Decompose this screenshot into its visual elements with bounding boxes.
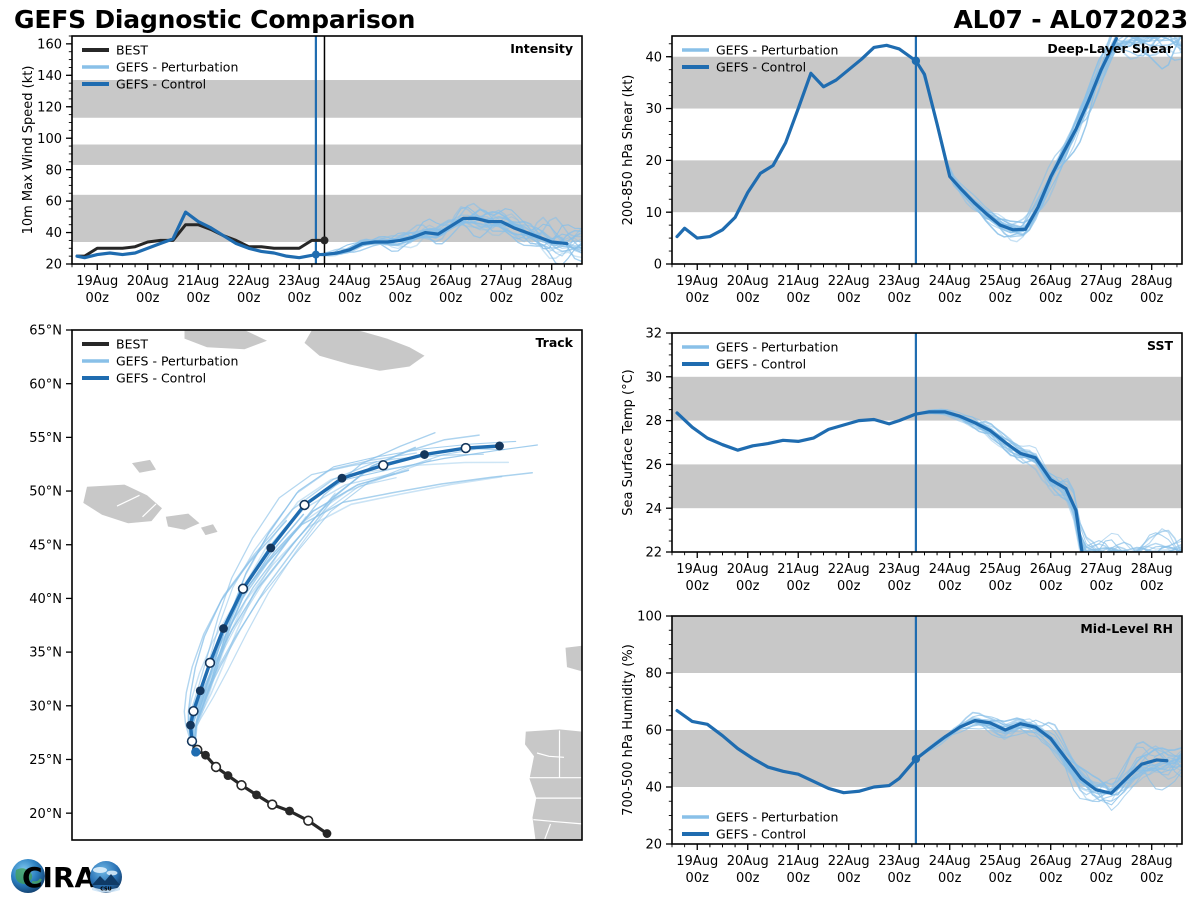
svg-text:24: 24 bbox=[645, 502, 662, 517]
chart-track[interactable]: 20°N25°N30°N35°N40°N45°N50°N55°N60°N65°N… bbox=[0, 322, 600, 852]
chart-intensity[interactable]: 2040608010012014016010m Max Wind Speed (… bbox=[0, 28, 600, 320]
svg-text:40: 40 bbox=[645, 781, 662, 796]
svg-text:30°N: 30°N bbox=[29, 699, 62, 714]
svg-text:160: 160 bbox=[37, 37, 62, 52]
cira-logo-subtext: CSU bbox=[100, 887, 111, 893]
svg-text:23Aug: 23Aug bbox=[878, 562, 920, 577]
legend-label: GEFS - Control bbox=[116, 370, 206, 385]
svg-text:60: 60 bbox=[45, 195, 62, 210]
y-axis-label: 10m Max Wind Speed (kt) bbox=[21, 66, 36, 235]
svg-text:28Aug: 28Aug bbox=[1131, 854, 1173, 869]
svg-text:00z: 00z bbox=[989, 871, 1013, 886]
svg-text:00z: 00z bbox=[1140, 871, 1164, 886]
svg-text:22Aug: 22Aug bbox=[828, 854, 870, 869]
svg-text:00z: 00z bbox=[736, 871, 760, 886]
svg-text:100: 100 bbox=[37, 132, 62, 147]
best-end-marker bbox=[320, 236, 328, 244]
chart-intensity-svg: 2040608010012014016010m Max Wind Speed (… bbox=[0, 28, 600, 320]
init-marker bbox=[912, 755, 920, 763]
chart-mid-level-rh[interactable]: 20406080100700-500 hPa Humidity (%)19Aug… bbox=[600, 608, 1200, 900]
svg-text:45°N: 45°N bbox=[29, 538, 62, 553]
svg-text:20: 20 bbox=[645, 838, 662, 853]
svg-text:00z: 00z bbox=[1090, 291, 1114, 306]
svg-text:25Aug: 25Aug bbox=[979, 274, 1021, 289]
svg-text:00z: 00z bbox=[686, 291, 710, 306]
svg-text:55°N: 55°N bbox=[29, 431, 62, 446]
svg-text:19Aug: 19Aug bbox=[676, 274, 718, 289]
svg-text:21Aug: 21Aug bbox=[777, 274, 819, 289]
svg-text:00z: 00z bbox=[1090, 579, 1114, 594]
svg-text:20Aug: 20Aug bbox=[727, 562, 769, 577]
svg-text:23Aug: 23Aug bbox=[878, 854, 920, 869]
svg-text:26Aug: 26Aug bbox=[1030, 854, 1072, 869]
svg-text:25Aug: 25Aug bbox=[979, 562, 1021, 577]
svg-text:0: 0 bbox=[654, 258, 662, 273]
legend-label: GEFS - Control bbox=[716, 59, 806, 74]
svg-text:22Aug: 22Aug bbox=[228, 274, 270, 289]
x-axis: 19Aug00z20Aug00z21Aug00z22Aug00z23Aug00z… bbox=[72, 264, 577, 306]
y-axis: 010203040 bbox=[645, 44, 672, 273]
svg-text:20: 20 bbox=[45, 258, 62, 273]
svg-text:28: 28 bbox=[645, 414, 662, 429]
svg-text:26Aug: 26Aug bbox=[1030, 274, 1072, 289]
svg-text:27Aug: 27Aug bbox=[480, 274, 522, 289]
svg-text:24Aug: 24Aug bbox=[929, 854, 971, 869]
svg-text:00z: 00z bbox=[787, 871, 811, 886]
chart-sst-svg: 222426283032Sea Surface Temp (°C)19Aug00… bbox=[600, 325, 1200, 608]
y-axis-label: Sea Surface Temp (°C) bbox=[621, 369, 636, 516]
svg-text:27Aug: 27Aug bbox=[1080, 854, 1122, 869]
control-start-marker bbox=[191, 747, 200, 756]
legend-label: GEFS - Perturbation bbox=[116, 353, 238, 368]
legend-label: GEFS - Control bbox=[116, 76, 206, 91]
svg-text:00z: 00z bbox=[187, 291, 211, 306]
svg-text:60: 60 bbox=[645, 724, 662, 739]
svg-text:40°N: 40°N bbox=[29, 592, 62, 607]
panel-title: Intensity bbox=[510, 41, 573, 56]
x-axis: 19Aug00z20Aug00z21Aug00z22Aug00z23Aug00z… bbox=[672, 552, 1177, 594]
y-axis: 20°N25°N30°N35°N40°N45°N50°N55°N60°N65°N bbox=[29, 324, 72, 822]
svg-text:21Aug: 21Aug bbox=[777, 562, 819, 577]
svg-text:00z: 00z bbox=[338, 291, 362, 306]
svg-text:00z: 00z bbox=[439, 291, 463, 306]
panel-title: Track bbox=[536, 335, 574, 350]
panel-title: SST bbox=[1147, 338, 1173, 353]
chart-deep-layer-shear[interactable]: 010203040200-850 hPa Shear (kt)19Aug00z2… bbox=[600, 28, 1200, 320]
svg-text:28Aug: 28Aug bbox=[1131, 274, 1173, 289]
init-marker bbox=[912, 57, 920, 65]
svg-text:00z: 00z bbox=[1140, 291, 1164, 306]
svg-text:35°N: 35°N bbox=[29, 646, 62, 661]
svg-text:00z: 00z bbox=[736, 579, 760, 594]
svg-text:40: 40 bbox=[45, 226, 62, 241]
y-axis: 20406080100 bbox=[637, 610, 672, 853]
y-axis-label: 700-500 hPa Humidity (%) bbox=[621, 644, 636, 816]
svg-text:23Aug: 23Aug bbox=[878, 274, 920, 289]
svg-text:120: 120 bbox=[37, 100, 62, 115]
svg-text:19Aug: 19Aug bbox=[76, 274, 118, 289]
panel-title: Deep-Layer Shear bbox=[1047, 41, 1173, 56]
svg-text:00z: 00z bbox=[136, 291, 160, 306]
svg-text:00z: 00z bbox=[837, 291, 861, 306]
cira-logo: CIRA CSU bbox=[6, 852, 132, 898]
svg-text:22Aug: 22Aug bbox=[828, 562, 870, 577]
svg-text:19Aug: 19Aug bbox=[676, 854, 718, 869]
svg-text:00z: 00z bbox=[389, 291, 413, 306]
svg-text:00z: 00z bbox=[837, 579, 861, 594]
svg-text:00z: 00z bbox=[686, 579, 710, 594]
svg-text:00z: 00z bbox=[86, 291, 110, 306]
svg-text:00z: 00z bbox=[938, 291, 962, 306]
legend-label: GEFS - Perturbation bbox=[716, 339, 838, 354]
cira-logo-text: CIRA bbox=[22, 861, 97, 894]
svg-text:25Aug: 25Aug bbox=[979, 854, 1021, 869]
svg-text:00z: 00z bbox=[1039, 579, 1063, 594]
svg-text:00z: 00z bbox=[1039, 291, 1063, 306]
svg-text:20Aug: 20Aug bbox=[727, 854, 769, 869]
svg-text:20Aug: 20Aug bbox=[727, 274, 769, 289]
svg-text:00z: 00z bbox=[989, 291, 1013, 306]
svg-text:00z: 00z bbox=[888, 871, 912, 886]
y-axis-label: 200-850 hPa Shear (kt) bbox=[621, 75, 636, 226]
svg-text:80: 80 bbox=[45, 163, 62, 178]
svg-text:00z: 00z bbox=[1140, 579, 1164, 594]
chart-track-svg: 20°N25°N30°N35°N40°N45°N50°N55°N60°N65°N… bbox=[0, 322, 600, 852]
svg-text:65°N: 65°N bbox=[29, 324, 62, 339]
svg-text:50°N: 50°N bbox=[29, 485, 62, 500]
svg-text:00z: 00z bbox=[686, 871, 710, 886]
cira-logo-emblem: CSU bbox=[90, 861, 122, 893]
svg-text:140: 140 bbox=[37, 69, 62, 84]
svg-text:24Aug: 24Aug bbox=[929, 562, 971, 577]
svg-text:00z: 00z bbox=[288, 291, 312, 306]
svg-text:00z: 00z bbox=[888, 291, 912, 306]
svg-text:21Aug: 21Aug bbox=[177, 274, 219, 289]
svg-text:24Aug: 24Aug bbox=[929, 274, 971, 289]
legend-label: GEFS - Perturbation bbox=[716, 42, 838, 57]
legend-label: GEFS - Perturbation bbox=[716, 809, 838, 824]
legend-label: BEST bbox=[116, 42, 148, 57]
legend-label: GEFS - Perturbation bbox=[116, 59, 238, 74]
svg-text:26Aug: 26Aug bbox=[1030, 562, 1072, 577]
svg-text:25Aug: 25Aug bbox=[379, 274, 421, 289]
svg-text:00z: 00z bbox=[1090, 871, 1114, 886]
x-axis: 19Aug00z20Aug00z21Aug00z22Aug00z23Aug00z… bbox=[672, 264, 1177, 306]
svg-text:00z: 00z bbox=[787, 579, 811, 594]
svg-text:22: 22 bbox=[645, 546, 662, 561]
svg-text:80: 80 bbox=[645, 667, 662, 682]
svg-text:20Aug: 20Aug bbox=[127, 274, 169, 289]
svg-text:26Aug: 26Aug bbox=[430, 274, 472, 289]
panel-title: Mid-Level RH bbox=[1080, 621, 1173, 636]
svg-text:00z: 00z bbox=[540, 291, 564, 306]
x-axis: 19Aug00z20Aug00z21Aug00z22Aug00z23Aug00z… bbox=[672, 844, 1177, 886]
svg-text:23Aug: 23Aug bbox=[278, 274, 320, 289]
svg-text:00z: 00z bbox=[888, 579, 912, 594]
svg-text:40: 40 bbox=[645, 50, 662, 65]
svg-text:20°N: 20°N bbox=[29, 807, 62, 822]
chart-shear-svg: 010203040200-850 hPa Shear (kt)19Aug00z2… bbox=[600, 28, 1200, 320]
svg-text:10: 10 bbox=[645, 206, 662, 221]
y-axis: 20406080100120140160 bbox=[37, 36, 72, 273]
init-marker bbox=[312, 251, 320, 259]
chart-rh-svg: 20406080100700-500 hPa Humidity (%)19Aug… bbox=[600, 608, 1200, 900]
svg-text:27Aug: 27Aug bbox=[1080, 562, 1122, 577]
svg-text:20: 20 bbox=[645, 154, 662, 169]
svg-text:27Aug: 27Aug bbox=[1080, 274, 1122, 289]
svg-text:00z: 00z bbox=[736, 291, 760, 306]
svg-text:00z: 00z bbox=[989, 579, 1013, 594]
svg-text:22Aug: 22Aug bbox=[828, 274, 870, 289]
svg-text:26: 26 bbox=[645, 458, 662, 473]
svg-text:32: 32 bbox=[645, 327, 662, 342]
svg-text:00z: 00z bbox=[237, 291, 261, 306]
svg-text:19Aug: 19Aug bbox=[676, 562, 718, 577]
svg-text:00z: 00z bbox=[938, 579, 962, 594]
svg-text:25°N: 25°N bbox=[29, 753, 62, 768]
svg-text:24Aug: 24Aug bbox=[329, 274, 371, 289]
legend-label: GEFS - Control bbox=[716, 826, 806, 841]
svg-text:100: 100 bbox=[637, 610, 662, 625]
svg-text:28Aug: 28Aug bbox=[531, 274, 573, 289]
y-axis: 222426283032 bbox=[645, 327, 672, 561]
svg-text:28Aug: 28Aug bbox=[1131, 562, 1173, 577]
svg-text:00z: 00z bbox=[837, 871, 861, 886]
svg-text:21Aug: 21Aug bbox=[777, 854, 819, 869]
chart-sst[interactable]: 222426283032Sea Surface Temp (°C)19Aug00… bbox=[600, 325, 1200, 608]
svg-text:60°N: 60°N bbox=[29, 377, 62, 392]
svg-text:00z: 00z bbox=[938, 871, 962, 886]
svg-text:00z: 00z bbox=[787, 291, 811, 306]
svg-text:30: 30 bbox=[645, 102, 662, 117]
svg-text:30: 30 bbox=[645, 370, 662, 385]
legend-label: GEFS - Control bbox=[716, 356, 806, 371]
svg-text:00z: 00z bbox=[1039, 871, 1063, 886]
svg-text:00z: 00z bbox=[490, 291, 514, 306]
legend-label: BEST bbox=[116, 336, 148, 351]
